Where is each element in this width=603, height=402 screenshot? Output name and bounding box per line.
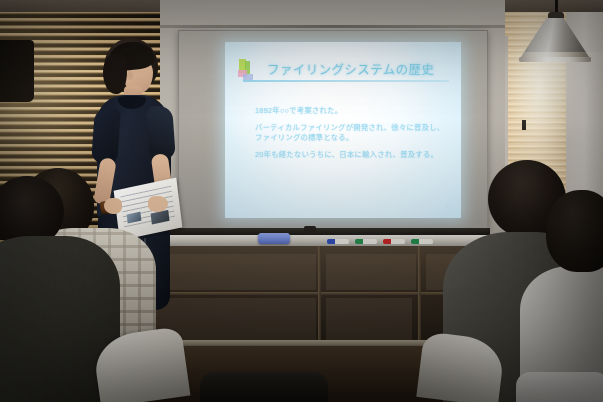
dark-corner-object bbox=[0, 40, 34, 102]
wall-seam bbox=[160, 25, 505, 28]
slide-page-number: 5 bbox=[446, 205, 449, 211]
presenter-ear bbox=[127, 71, 133, 80]
slide-title: ファイリングシステムの歴史 bbox=[267, 59, 447, 78]
cabinet-panel bbox=[326, 298, 412, 340]
marker-green[interactable] bbox=[355, 239, 377, 244]
audience-right-back-lap bbox=[516, 372, 603, 402]
chair-black-seat[interactable] bbox=[200, 372, 328, 402]
cabinet-divider bbox=[318, 246, 321, 346]
marker-red[interactable] bbox=[383, 239, 405, 244]
marker-cap-icon bbox=[383, 239, 391, 244]
marker-cap-icon bbox=[355, 239, 363, 244]
slide-body-line-3: 20年も経たないうちに、日本に輸入され、普及する。 bbox=[255, 150, 451, 161]
presenter-sleeve-left bbox=[91, 107, 121, 165]
slide-decoration bbox=[237, 59, 253, 79]
handout-image-thumbnail bbox=[151, 210, 170, 225]
marker-green-2[interactable] bbox=[411, 239, 433, 244]
presentation-room-photo: ファイリングシステムの歴史 1892年○○で考案された。 バーティカルファイリン… bbox=[0, 0, 603, 402]
slide-body-line-2: バーティカルファイリングが開発され、徐々に普及し、ファイリングの標準となる。 bbox=[255, 123, 451, 144]
marker-blue[interactable] bbox=[327, 239, 349, 244]
slide-title-underline bbox=[243, 80, 449, 82]
blind-cord-handle[interactable] bbox=[522, 120, 526, 130]
audience-right-back-head bbox=[546, 190, 603, 272]
lamp-rim bbox=[519, 57, 591, 62]
cabinet-divider bbox=[418, 246, 421, 346]
slide-body-line-1: 1892年○○で考案された。 bbox=[255, 106, 451, 117]
whiteboard-bottom-rail bbox=[170, 228, 490, 235]
whiteboard-eraser[interactable] bbox=[258, 233, 290, 244]
cabinet-panel bbox=[326, 254, 416, 290]
marker-cap-icon bbox=[327, 239, 335, 244]
whiteboard-rail-clip bbox=[304, 226, 316, 234]
slide-body: 1892年○○で考案された。 バーティカルファイリングが開発され、徐々に普及し、… bbox=[255, 106, 451, 166]
presenter-sleeve-right bbox=[146, 105, 176, 161]
presenter-hand-left bbox=[104, 198, 122, 214]
marker-cap-icon bbox=[411, 239, 419, 244]
projected-slide: ファイリングシステムの歴史 1892年○○で考案された。 バーティカルファイリン… bbox=[225, 42, 461, 218]
